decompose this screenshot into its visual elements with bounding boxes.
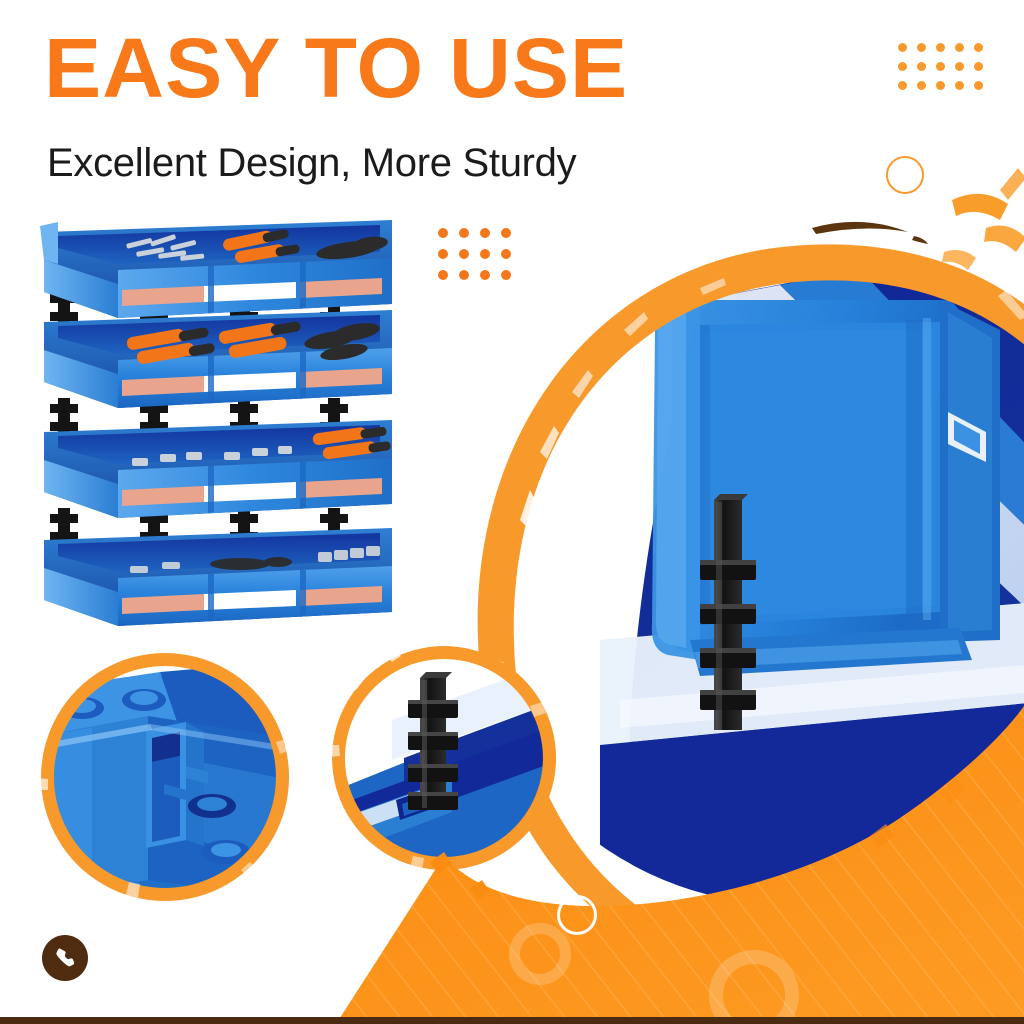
dot bbox=[936, 81, 945, 90]
ring-outline bbox=[509, 923, 571, 985]
dot bbox=[955, 62, 964, 71]
dot bbox=[480, 270, 490, 280]
page-title: EASY TO USE bbox=[44, 26, 628, 110]
dot bbox=[438, 270, 448, 280]
dot bbox=[438, 228, 448, 238]
dot bbox=[917, 81, 926, 90]
dot bbox=[955, 43, 964, 52]
bin-tier bbox=[44, 508, 392, 626]
inset-bin-socket-detail bbox=[34, 650, 300, 910]
dot bbox=[898, 43, 907, 52]
phone-handset-icon bbox=[53, 946, 77, 970]
dot bbox=[974, 81, 983, 90]
page-subtitle: Excellent Design, More Sturdy bbox=[47, 140, 576, 186]
bottom-divider bbox=[0, 1017, 1024, 1024]
dot bbox=[974, 62, 983, 71]
dot bbox=[501, 270, 511, 280]
dot bbox=[936, 43, 945, 52]
dot-grid bbox=[898, 43, 993, 100]
product-marketing-banner: EASY TO USE Excellent Design, More Sturd… bbox=[0, 0, 1024, 1024]
orange-splash bbox=[942, 168, 1024, 270]
dot bbox=[974, 43, 983, 52]
dot bbox=[480, 228, 490, 238]
dot bbox=[917, 62, 926, 71]
dot bbox=[459, 228, 469, 238]
phone-badge[interactable] bbox=[42, 935, 88, 981]
bin-tier bbox=[44, 398, 392, 518]
dot bbox=[459, 249, 469, 259]
dot bbox=[501, 249, 511, 259]
dot-grid bbox=[438, 228, 522, 291]
brown-arc-accent bbox=[812, 222, 928, 244]
dot bbox=[480, 249, 490, 259]
dot bbox=[898, 62, 907, 71]
dot bbox=[459, 270, 469, 280]
dot bbox=[917, 43, 926, 52]
parts-bin-rack bbox=[40, 220, 392, 626]
dot bbox=[955, 81, 964, 90]
dot bbox=[936, 62, 945, 71]
ring-outline bbox=[557, 895, 597, 935]
socket-hole bbox=[122, 689, 166, 711]
dot bbox=[438, 249, 448, 259]
socket-hole bbox=[188, 794, 236, 818]
dot bbox=[501, 228, 511, 238]
bin-tier bbox=[40, 220, 392, 318]
ring-outline bbox=[886, 156, 924, 194]
dot bbox=[898, 81, 907, 90]
